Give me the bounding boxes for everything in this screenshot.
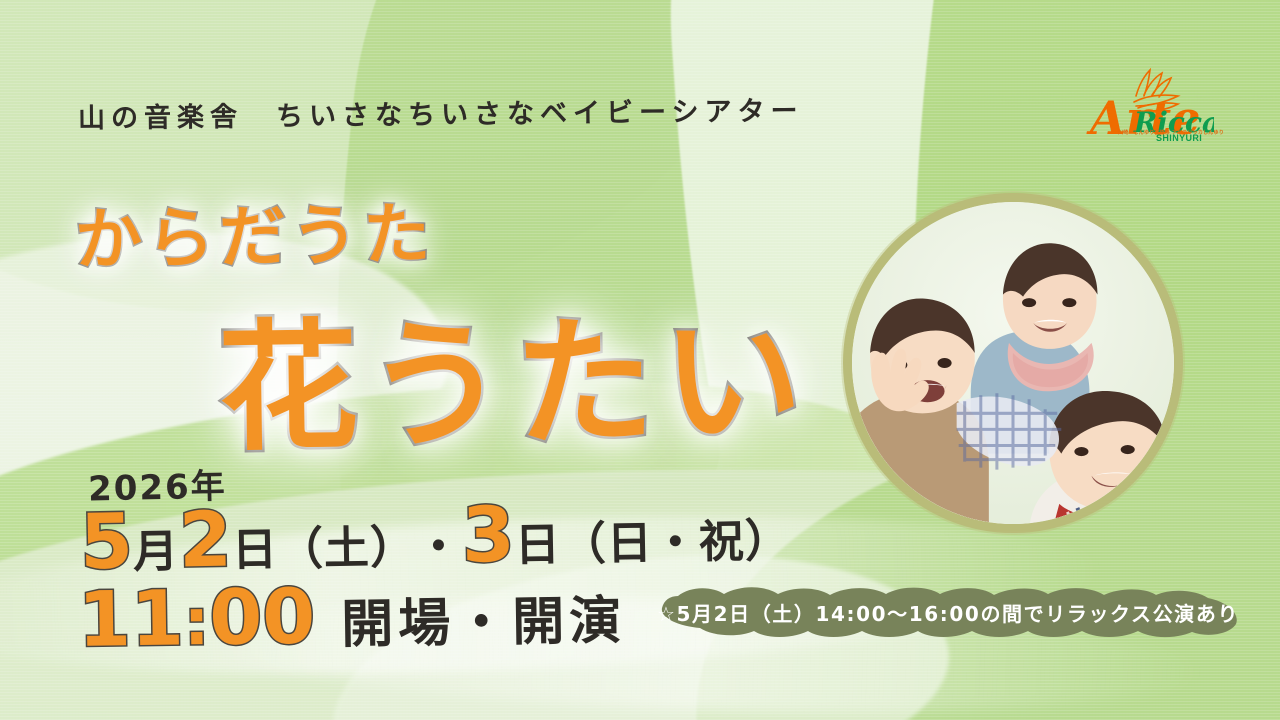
- poster-root: 山の音楽舎 ちいさなちいさなベイビーシアター Arte Ricca SHINYU…: [0, 0, 1280, 720]
- date-day2-suffix: 日（日・祝）: [514, 518, 791, 568]
- schedule-date-line: 5 月 2 日（土） ・ 3 日（日・祝）: [79, 492, 791, 580]
- time-minute: 00: [209, 579, 316, 656]
- date-day1-number: 2: [178, 502, 232, 579]
- title-small: からだうた: [74, 180, 436, 283]
- relax-banner-text: ☆5月2日（土）14:00〜16:00の間でリラックス公演あり: [648, 586, 1248, 638]
- artericca-logo[interactable]: Arte Ricca SHINYURI: [1074, 62, 1214, 152]
- baby-photo-circle: [843, 193, 1183, 533]
- date-month-number: 5: [79, 503, 133, 580]
- date-separator: ・: [416, 524, 463, 570]
- time-colon: :: [183, 591, 209, 655]
- relax-performance-banner: ☆5月2日（土）14:00〜16:00の間でリラックス公演あり: [648, 586, 1248, 638]
- logo-caption: 川崎・しんゆり芸術祭 アルテリッカしんゆり: [1118, 129, 1224, 136]
- title-large: 花うたい: [217, 268, 812, 478]
- baby-photo-image: [852, 202, 1174, 524]
- time-hour: 11: [77, 580, 184, 657]
- date-day2-number: 3: [461, 497, 515, 574]
- time-note: 開場・開演: [341, 595, 627, 651]
- date-month-kanji: 月: [133, 528, 180, 574]
- schedule-time-line: 11 : 00 開場・開演: [77, 574, 626, 658]
- date-day1-suffix: 日（土）: [232, 524, 417, 572]
